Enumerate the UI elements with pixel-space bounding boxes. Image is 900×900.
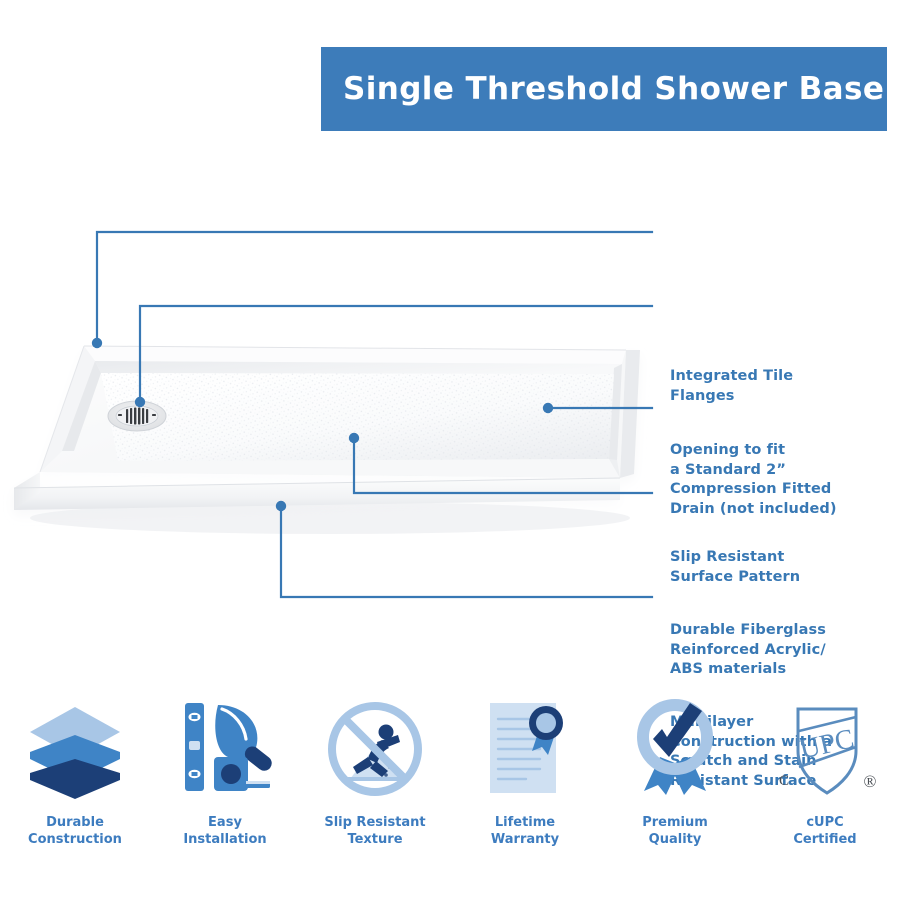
feature-badges-row: Durable Construction — [0, 695, 900, 875]
feature-label-cupc-certified: cUPC Certified — [793, 814, 856, 848]
callout-label-slip-resistant: Slip Resistant Surface Pattern — [670, 548, 800, 587]
callout-label-tile-flanges: Integrated Tile Flanges — [670, 367, 793, 406]
anchor-dot-durable-materials — [349, 433, 359, 443]
upc-left-mark: C — [779, 773, 789, 789]
feature-label-slip-resistant-texture: Slip Resistant Texture — [324, 814, 425, 848]
product-illustration-area: Integrated Tile Flanges Opening to fit a… — [0, 160, 900, 680]
anchor-dot-slip-resistant — [543, 403, 553, 413]
anchor-dot-tile-flanges — [92, 338, 102, 348]
feature-label-durable-construction: Durable Construction — [28, 814, 122, 848]
anchor-dot-drain-opening — [135, 397, 145, 407]
feature-lifetime-warranty: Lifetime Warranty — [450, 695, 600, 848]
feature-durable-construction: Durable Construction — [0, 695, 150, 848]
feature-easy-installation: Easy Installation — [150, 695, 300, 848]
stacked-layers-icon — [20, 695, 130, 803]
shower-base-illustration — [0, 160, 900, 680]
page-title-banner: Single Threshold Shower Base — [321, 47, 887, 131]
feature-slip-resistant-texture: Slip Resistant Texture — [300, 695, 450, 848]
leader-line-tile-flanges — [97, 232, 652, 343]
level-trowel-tape-icon — [170, 695, 280, 803]
pan-back-rim-top — [84, 346, 626, 364]
feature-label-lifetime-warranty: Lifetime Warranty — [491, 814, 559, 848]
award-checkmark-icon — [620, 695, 730, 803]
slip-resistant-texture-overlay — [101, 373, 614, 461]
upc-shield-icon: UPC C ® — [770, 695, 880, 803]
no-slip-hazard-icon — [320, 695, 430, 803]
certificate-ribbon-icon — [470, 695, 580, 803]
page-title: Single Threshold Shower Base — [343, 71, 884, 107]
shower-pan — [14, 346, 640, 510]
feature-label-premium-quality: Premium Quality — [642, 814, 708, 848]
upc-registered-mark: ® — [864, 772, 877, 791]
callout-label-durable-materials: Durable Fiberglass Reinforced Acrylic/ A… — [670, 621, 826, 680]
anchor-dot-multilayer — [276, 501, 286, 511]
infographic-page: Single Threshold Shower Base — [0, 0, 900, 900]
feature-cupc-certified: UPC C ® cUPC Certified — [750, 695, 900, 848]
feature-label-easy-installation: Easy Installation — [183, 814, 266, 848]
feature-premium-quality: Premium Quality — [600, 695, 750, 848]
callout-label-drain-opening: Opening to fit a Standard 2” Compression… — [670, 441, 837, 520]
pan-front-apron — [40, 459, 620, 478]
